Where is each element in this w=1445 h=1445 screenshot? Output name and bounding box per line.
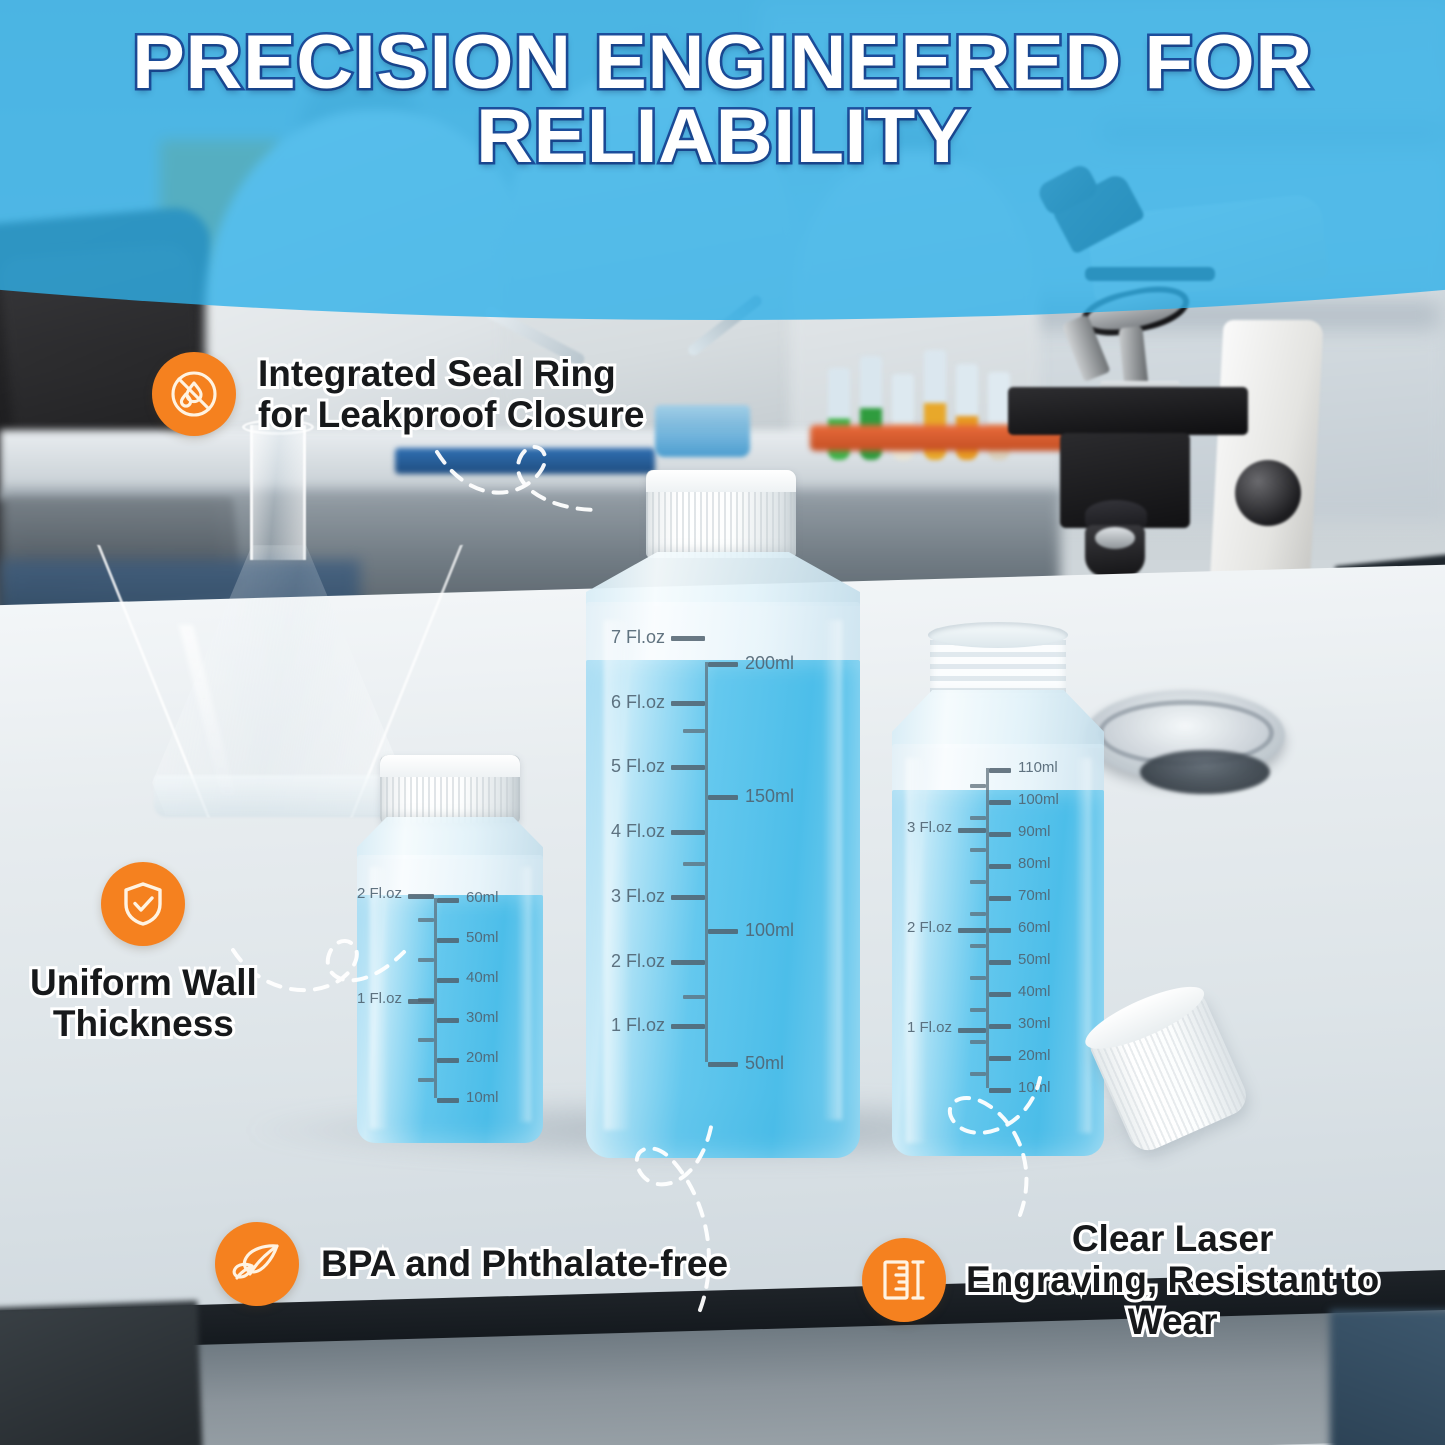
feature-label-laser-engraving: Clear Laser Engraving, Resistant to Wear bbox=[966, 1218, 1379, 1342]
microscope-lamp-glass bbox=[1095, 527, 1135, 549]
scale-tick-oz bbox=[958, 828, 986, 833]
scale-tick-oz bbox=[671, 701, 705, 706]
scale-tick-minor bbox=[970, 880, 986, 884]
scale-tick-oz bbox=[671, 895, 705, 900]
bottle-cap-large bbox=[646, 470, 796, 558]
feature-callout-laser-engraving[interactable]: Clear Laser Engraving, Resistant to Wear bbox=[862, 1218, 1379, 1342]
scale-label-ml: 80ml bbox=[1018, 856, 1051, 871]
leaf-icon bbox=[215, 1222, 299, 1306]
scale-tick bbox=[437, 1098, 459, 1103]
scale-label-ml: 10ml bbox=[466, 1090, 499, 1105]
scale-label-ml: 60ml bbox=[466, 890, 499, 905]
scale-tick bbox=[437, 938, 459, 943]
scale-tick-minor bbox=[970, 912, 986, 916]
scale-tick-oz bbox=[958, 1028, 986, 1033]
feature-callout-bpa-free[interactable]: BPA and Phthalate-free bbox=[215, 1222, 728, 1306]
scale-label-oz: 6 Fl.oz bbox=[611, 693, 665, 711]
large-bottle-200ml: 200ml150ml100ml50ml7 Fl.oz6 Fl.oz5 Fl.oz… bbox=[578, 470, 868, 1160]
scale-label-ml: 60ml bbox=[1018, 920, 1051, 935]
bottle-shoulder-small bbox=[357, 817, 543, 859]
scale-tick bbox=[708, 662, 738, 667]
microscope-focus-knob bbox=[1235, 460, 1301, 526]
scale-label-oz: 3 Fl.oz bbox=[907, 820, 952, 835]
graduation-scale-large: 200ml150ml100ml50ml7 Fl.oz6 Fl.oz5 Fl.oz… bbox=[705, 662, 865, 1062]
scale-tick bbox=[989, 960, 1011, 965]
scale-tick bbox=[989, 1056, 1011, 1061]
scale-tick-minor bbox=[418, 958, 434, 962]
scale-tick bbox=[437, 898, 459, 903]
bottle-cap-small bbox=[380, 755, 520, 823]
scale-tick-minor bbox=[683, 862, 705, 866]
scale-tick-minor bbox=[970, 784, 986, 788]
scale-label-oz: 1 Fl.oz bbox=[611, 1016, 665, 1034]
feature-label-uniform-wall: Uniform Wall Thickness bbox=[30, 962, 257, 1045]
scale-tick bbox=[708, 1062, 738, 1067]
scale-label-oz: 2 Fl.oz bbox=[357, 886, 402, 901]
scale-label-oz: 1 Fl.oz bbox=[907, 1020, 952, 1035]
scale-tick-minor bbox=[418, 918, 434, 922]
scale-label-ml: 50ml bbox=[745, 1054, 784, 1072]
scale-tick-oz bbox=[671, 830, 705, 835]
bottle-mouth-opening bbox=[928, 622, 1068, 648]
scale-label-ml: 70ml bbox=[1018, 888, 1051, 903]
ruler-icon bbox=[862, 1238, 946, 1322]
scale-tick-oz bbox=[408, 999, 434, 1004]
scale-tick-minor bbox=[970, 848, 986, 852]
scale-tick-minor bbox=[970, 976, 986, 980]
shield-check-icon bbox=[101, 862, 185, 946]
scale-label-ml: 150ml bbox=[745, 787, 794, 805]
scale-label-oz: 5 Fl.oz bbox=[611, 757, 665, 775]
scale-tick-minor bbox=[683, 729, 705, 733]
blue-beaker bbox=[655, 405, 750, 457]
small-bottle-60ml: 60ml50ml40ml30ml20ml10ml2 Fl.oz1 Fl.oz bbox=[352, 755, 552, 1155]
feature-label-bpa-free: BPA and Phthalate-free bbox=[321, 1243, 728, 1284]
bottle-shoulder-large bbox=[586, 552, 860, 606]
flask-neck bbox=[250, 425, 306, 560]
scale-label-ml: 50ml bbox=[1018, 952, 1051, 967]
scale-label-ml: 100ml bbox=[1018, 792, 1059, 807]
scale-label-ml: 20ml bbox=[1018, 1048, 1051, 1063]
medium-bottle-110ml: 110ml100ml90ml80ml70ml60ml50ml40ml30ml20… bbox=[888, 628, 1108, 1158]
scale-label-ml: 110ml bbox=[1018, 760, 1058, 775]
scale-tick bbox=[989, 1088, 1011, 1093]
scale-label-oz: 3 Fl.oz bbox=[611, 887, 665, 905]
scale-tick-oz bbox=[671, 636, 705, 641]
scale-axis bbox=[434, 898, 437, 1098]
scale-tick bbox=[989, 928, 1011, 933]
bottle-cap-top bbox=[646, 470, 796, 492]
scale-tick-oz bbox=[958, 928, 986, 933]
scale-tick bbox=[437, 1058, 459, 1063]
scale-tick bbox=[989, 864, 1011, 869]
scale-tick-minor bbox=[970, 1008, 986, 1012]
product-infographic: 200ml150ml100ml50ml7 Fl.oz6 Fl.oz5 Fl.oz… bbox=[0, 0, 1445, 1445]
scale-tick bbox=[437, 1018, 459, 1023]
scale-tick bbox=[437, 978, 459, 983]
scale-tick-oz bbox=[671, 1024, 705, 1029]
title-line-1: PRECISION ENGINEERED FOR bbox=[132, 20, 1313, 105]
scale-tick-minor bbox=[683, 995, 705, 999]
scale-label-oz: 2 Fl.oz bbox=[907, 920, 952, 935]
scale-axis bbox=[705, 662, 708, 1062]
scale-label-ml: 30ml bbox=[466, 1010, 499, 1025]
title-line-2: RELIABILITY bbox=[0, 100, 1445, 174]
scale-tick bbox=[989, 768, 1011, 773]
bottle-gloss-medium bbox=[906, 758, 926, 1143]
scale-label-ml: 200ml bbox=[745, 654, 794, 672]
scale-label-ml: 40ml bbox=[1018, 984, 1051, 999]
scale-tick-oz bbox=[671, 765, 705, 770]
page-title: PRECISION ENGINEERED FOR RELIABILITY bbox=[0, 26, 1445, 173]
bottle-shoulder-medium bbox=[892, 690, 1104, 748]
feature-label-seal-ring: Integrated Seal Ring for Leakproof Closu… bbox=[258, 353, 645, 436]
bottle-cap-top bbox=[380, 755, 520, 777]
scale-tick-minor bbox=[970, 944, 986, 948]
scale-tick bbox=[989, 896, 1011, 901]
scale-tick-minor bbox=[970, 1040, 986, 1044]
feature-callout-uniform-wall[interactable]: Uniform Wall Thickness bbox=[30, 862, 257, 1045]
scale-tick bbox=[708, 929, 738, 934]
scale-label-ml: 90ml bbox=[1018, 824, 1051, 839]
microscope-stage bbox=[1008, 387, 1248, 435]
no-water-drop-icon bbox=[152, 352, 236, 436]
scale-tick bbox=[989, 800, 1011, 805]
scale-label-oz: 7 Fl.oz bbox=[611, 628, 665, 646]
scale-tick-oz bbox=[408, 894, 434, 899]
scale-label-ml: 10ml bbox=[1018, 1080, 1051, 1095]
scale-tick-oz bbox=[671, 960, 705, 965]
scale-tick bbox=[708, 795, 738, 800]
scale-tick-minor bbox=[418, 1078, 434, 1082]
scale-label-oz: 1 Fl.oz bbox=[357, 991, 402, 1006]
scale-label-ml: 100ml bbox=[745, 921, 794, 939]
scale-label-ml: 40ml bbox=[466, 970, 499, 985]
scale-tick-minor bbox=[970, 816, 986, 820]
graduation-scale-small: 60ml50ml40ml30ml20ml10ml2 Fl.oz1 Fl.oz bbox=[434, 898, 544, 1098]
floor-left-dark bbox=[0, 1301, 203, 1445]
scale-tick bbox=[989, 1024, 1011, 1029]
scale-tick bbox=[989, 832, 1011, 837]
scale-label-ml: 20ml bbox=[466, 1050, 499, 1065]
scale-tick bbox=[989, 992, 1011, 997]
scale-tick-minor bbox=[418, 1038, 434, 1042]
scale-tick-minor bbox=[970, 1072, 986, 1076]
petri-dish-lid bbox=[1140, 750, 1270, 794]
scale-label-oz: 2 Fl.oz bbox=[611, 952, 665, 970]
scale-label-oz: 4 Fl.oz bbox=[611, 822, 665, 840]
scale-label-ml: 30ml bbox=[1018, 1016, 1051, 1031]
scale-label-ml: 50ml bbox=[466, 930, 499, 945]
feature-callout-seal-ring[interactable]: Integrated Seal Ring for Leakproof Closu… bbox=[152, 352, 645, 436]
